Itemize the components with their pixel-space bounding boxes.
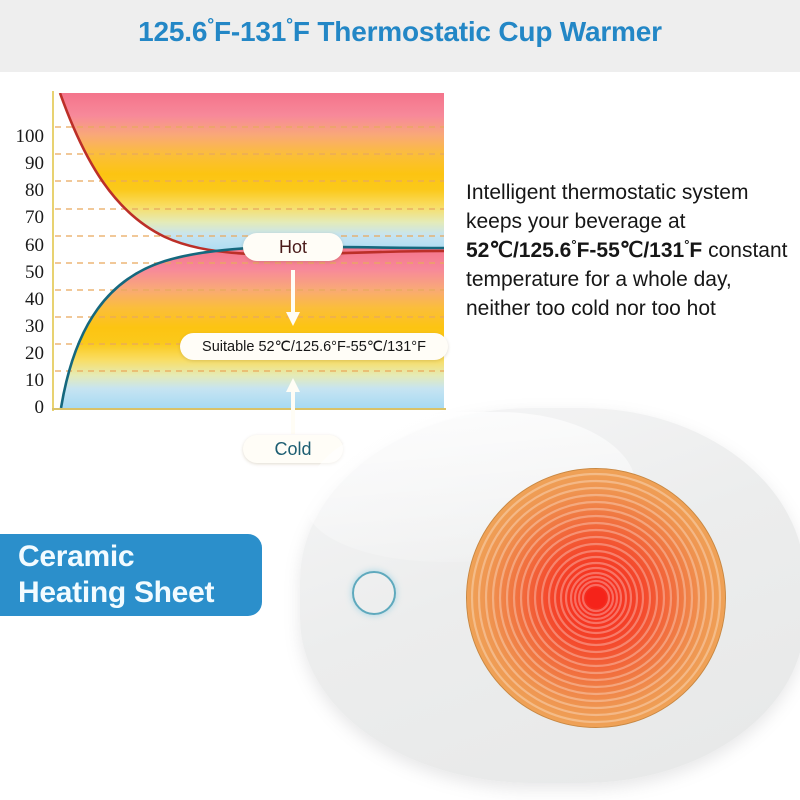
badge-line-1: Ceramic: [18, 539, 262, 575]
heat-rings-svg: [467, 469, 725, 727]
hot-region: [60, 93, 444, 255]
arrow-head: [286, 312, 300, 326]
chart-y-axis: 100 90 80 70 60 50 40 30 20 10 0: [0, 90, 44, 420]
arrow-head: [286, 378, 300, 392]
power-button-icon[interactable]: [352, 571, 396, 615]
page-title-mid: F-131: [214, 16, 286, 47]
degree-symbol-2: °: [286, 15, 293, 35]
suitable-band-label: Suitable 52℃/125.6°F-55℃/131°F: [180, 333, 448, 360]
description-bold-celsius: 52℃/: [466, 239, 519, 262]
y-tick-90: 90: [0, 154, 44, 173]
page-title-prefix: 125.6: [138, 16, 207, 47]
description-bold-f3: F: [689, 239, 702, 262]
description-bold-f2: F-55℃/131: [577, 239, 685, 262]
temperature-chart: 100 90 80 70 60 50 40 30 20 10 0: [0, 90, 470, 420]
description-bold-f1: 125.6: [519, 239, 572, 262]
y-tick-40: 40: [0, 290, 44, 309]
degree-symbol-1: °: [207, 15, 214, 35]
hot-label-text: Hot: [279, 237, 307, 258]
description-text: Intelligent thermostatic system keeps yo…: [466, 178, 796, 323]
y-tick-60: 60: [0, 236, 44, 255]
y-tick-80: 80: [0, 181, 44, 200]
y-tick-30: 30: [0, 317, 44, 336]
ceramic-heating-sheet-badge: Ceramic Heating Sheet: [0, 534, 262, 616]
hot-label: Hot: [243, 233, 343, 261]
hot-cools-down-arrow: [286, 270, 300, 326]
page-title: 125.6°F-131°F Thermostatic Cup Warmer: [0, 16, 800, 48]
badge-line-2: Heating Sheet: [18, 575, 262, 611]
cup-warmer-device: [300, 408, 800, 783]
y-tick-100: 100: [0, 127, 44, 146]
y-tick-50: 50: [0, 263, 44, 282]
suitable-band-text: Suitable 52℃/125.6°F-55℃/131°F: [202, 339, 426, 355]
description-part-1: Intelligent thermostatic system keeps yo…: [466, 181, 748, 233]
y-tick-0: 0: [0, 398, 44, 417]
y-tick-10: 10: [0, 371, 44, 390]
chart-axis-line-vertical: [52, 91, 54, 411]
cold-warms-up-arrow: [286, 378, 300, 434]
cold-region: [61, 247, 444, 408]
y-tick-20: 20: [0, 344, 44, 363]
page-title-suffix: F Thermostatic Cup Warmer: [293, 16, 662, 47]
arrow-shaft: [291, 390, 295, 434]
y-tick-70: 70: [0, 208, 44, 227]
arrow-shaft: [291, 270, 295, 314]
heating-zone-graphic: [466, 468, 726, 728]
